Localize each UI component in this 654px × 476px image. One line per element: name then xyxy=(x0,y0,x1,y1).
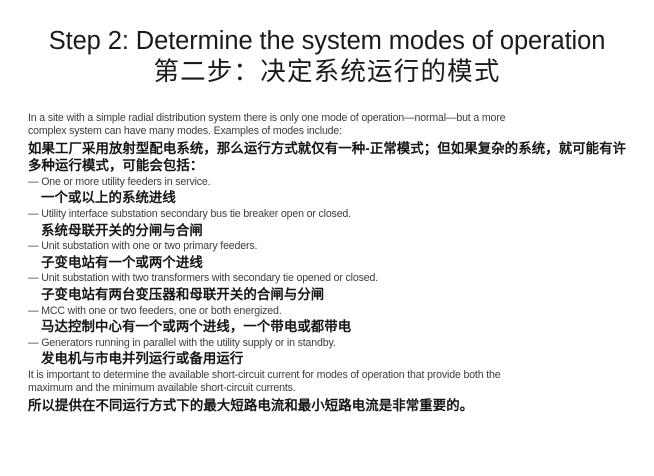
list-item-english: — Generators running in parallel with th… xyxy=(28,337,628,350)
closing-chinese-line-1: 所以提供在不同运行方式下的最大短路电流和最小短路电流是非常重要的。 xyxy=(28,397,628,414)
list-item-chinese: 子变电站有一个或两个进线 xyxy=(28,254,628,271)
closing-english-line-2: maximum and the minimum available short-… xyxy=(28,382,628,395)
list-item-chinese: 一个或以上的系统进线 xyxy=(28,189,628,206)
title-line-english: Step 2: Determine the system modes of op… xyxy=(0,26,654,56)
body-content: In a site with a simple radial distribut… xyxy=(28,112,628,414)
list-item-chinese: 系统母联开关的分闸与合闸 xyxy=(28,222,628,239)
list-item-chinese: 发电机与市电并列运行或备用运行 xyxy=(28,350,628,367)
list-item-english: — Unit substation with two transformers … xyxy=(28,272,628,285)
list-item-chinese: 子变电站有两台变压器和母联开关的合闸与分闸 xyxy=(28,286,628,303)
page-title: Step 2: Determine the system modes of op… xyxy=(0,26,654,87)
closing-english-line-1: It is important to determine the availab… xyxy=(28,369,628,382)
slide-canvas: Step 2: Determine the system modes of op… xyxy=(0,0,654,476)
title-line-chinese: 第二步：决定系统运行的模式 xyxy=(0,56,654,87)
intro-english-line-1: In a site with a simple radial distribut… xyxy=(28,112,628,125)
list-item-chinese: 马达控制中心有一个或两个进线，一个带电或都带电 xyxy=(28,318,628,335)
list-item-english: — Unit substation with one or two primar… xyxy=(28,240,628,253)
intro-chinese-line-1: 如果工厂采用放射型配电系统，那么运行方式就仅有一种-正常模式；但如果复杂的系统，… xyxy=(28,140,628,157)
intro-chinese-line-2: 多种运行模式，可能会包括： xyxy=(28,157,628,174)
list-item-english: — MCC with one or two feeders, one or bo… xyxy=(28,305,628,318)
list-item-english: — Utility interface substation secondary… xyxy=(28,208,628,221)
intro-english-line-2: complex system can have many modes. Exam… xyxy=(28,125,628,138)
list-item-english: — One or more utility feeders in service… xyxy=(28,176,628,189)
